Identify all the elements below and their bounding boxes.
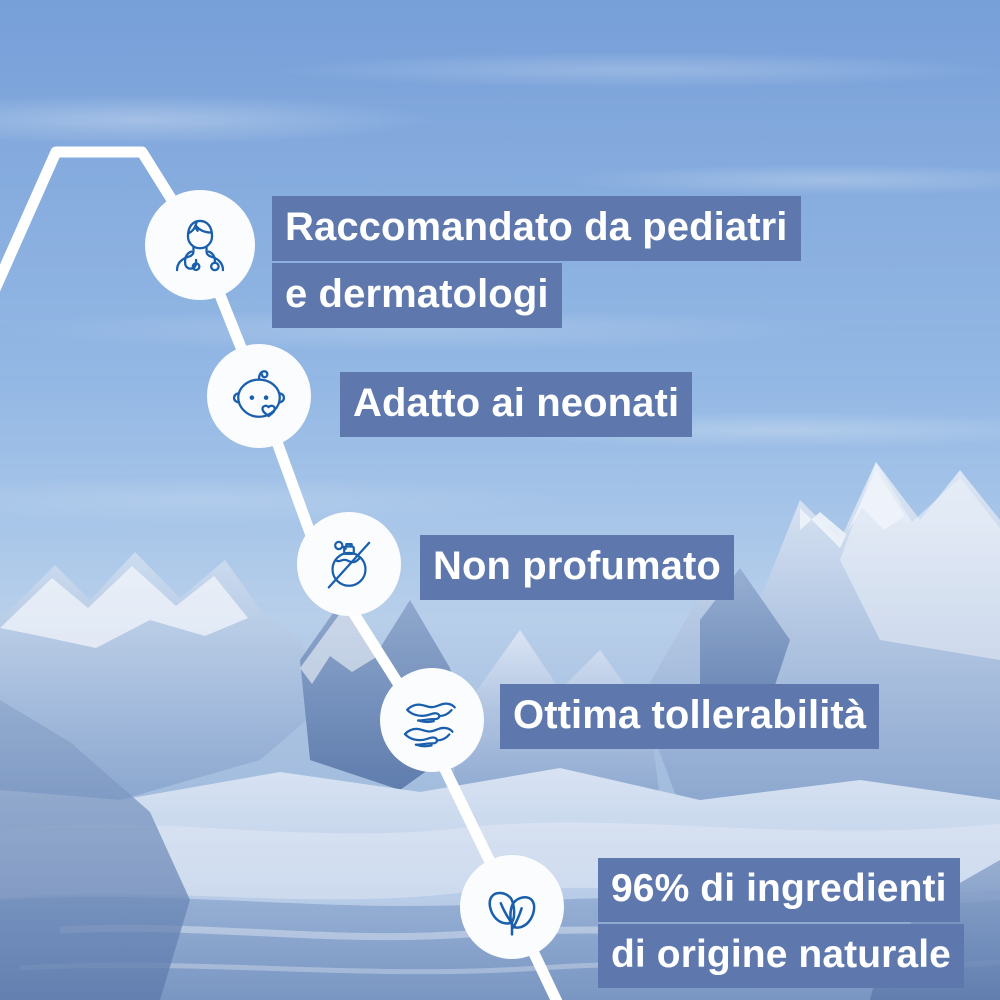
- feature-label-1-line-2: e dermatologi: [272, 263, 562, 328]
- badge-hands: [380, 668, 484, 772]
- badge-natural: [460, 855, 564, 959]
- hands-care-icon: [396, 684, 468, 756]
- feature-label-4-line-1: Ottima tollerabilità: [500, 684, 879, 749]
- feature-labels-3: Non profumato: [420, 535, 734, 600]
- feature-label-3-line-1: Non profumato: [420, 535, 734, 600]
- feature-label-5-line-1: 96% di ingredienti: [598, 858, 960, 922]
- baby-face-heart-icon: [224, 361, 294, 431]
- doctor-stethoscope-icon: [165, 210, 235, 280]
- badge-no-perfume: [297, 512, 401, 616]
- feature-labels-1: Raccomandato da pediatri e dermatologi: [272, 196, 801, 328]
- feature-label-2-line-1: Adatto ai neonati: [340, 372, 692, 437]
- feature-labels-5: 96% di ingredienti di origine naturale: [598, 858, 964, 988]
- infographic-canvas: Raccomandato da pediatri e dermatologi A…: [0, 0, 1000, 1000]
- feature-labels-4: Ottima tollerabilità: [500, 684, 879, 749]
- no-perfume-bottle-icon: [315, 530, 383, 598]
- feature-labels-2: Adatto ai neonati: [340, 372, 692, 437]
- badge-doctor: [145, 190, 255, 300]
- feature-label-5-line-2: di origine naturale: [598, 924, 964, 988]
- connector-path: [0, 0, 1000, 1000]
- natural-leaves-icon: [477, 872, 547, 942]
- badge-baby: [207, 344, 311, 448]
- feature-label-1-line-1: Raccomandato da pediatri: [272, 196, 801, 261]
